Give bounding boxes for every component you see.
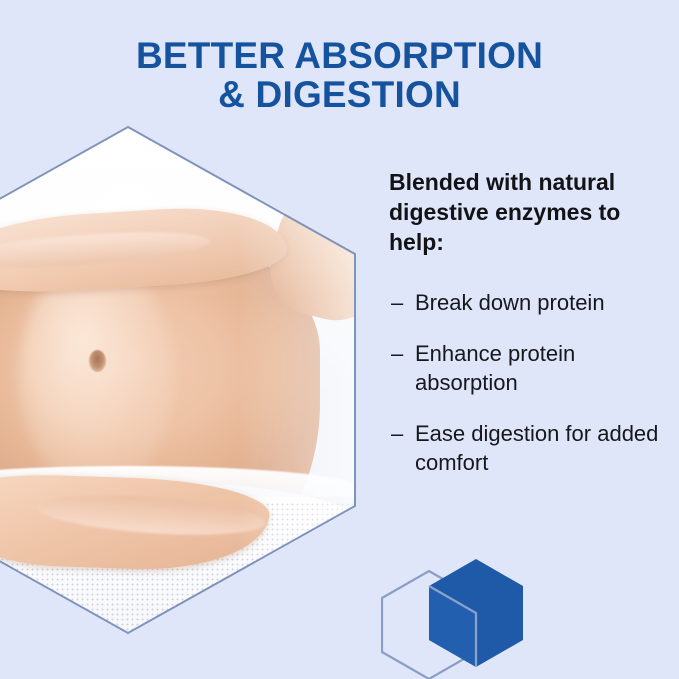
hexagon-frame-outline (0, 126, 356, 634)
lead-paragraph: Blended with natural digestive enzymes t… (389, 168, 669, 258)
copy-column: Blended with natural digestive enzymes t… (389, 168, 669, 477)
benefit-list: – Break down protein – Enhance protein a… (389, 288, 669, 477)
title-line-2: & DIGESTION (0, 75, 679, 114)
dash-marker: – (391, 419, 403, 448)
dash-marker: – (391, 339, 403, 368)
hexagon-photo-frame (0, 126, 356, 634)
list-item: – Ease digestion for added comfort (389, 419, 669, 477)
page-title: BETTER ABSORPTION & DIGESTION (0, 36, 679, 114)
dash-marker: – (391, 288, 403, 317)
infographic-canvas: BETTER ABSORPTION & DIGESTION (0, 0, 679, 679)
hexagon-logo-mark (381, 553, 571, 679)
title-line-1: BETTER ABSORPTION (0, 36, 679, 75)
list-item-label: Ease digestion for added comfort (415, 421, 658, 475)
list-item-label: Break down protein (415, 290, 605, 315)
list-item-label: Enhance protein absorption (415, 341, 575, 395)
list-item: – Enhance protein absorption (389, 339, 669, 397)
list-item: – Break down protein (389, 288, 669, 317)
